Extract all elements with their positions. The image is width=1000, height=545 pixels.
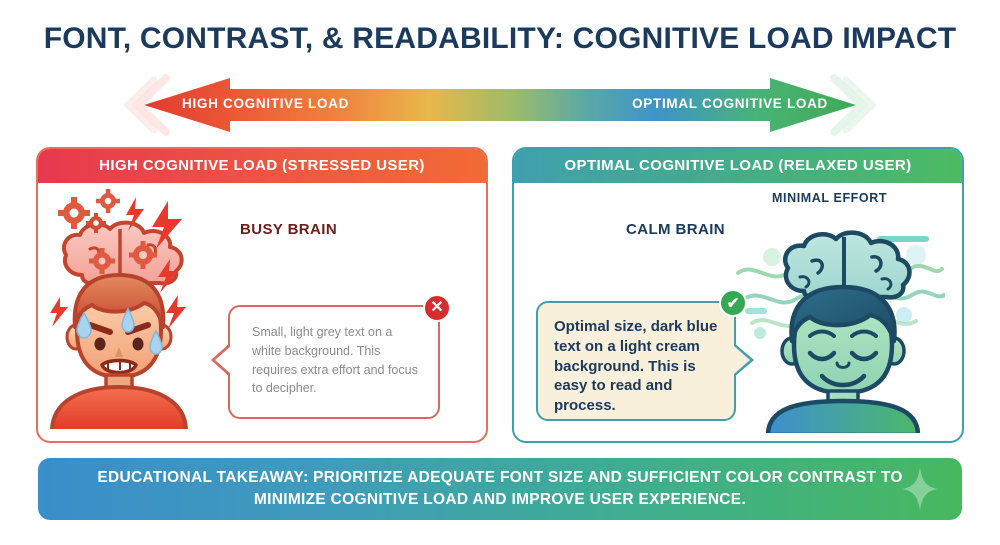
gear-icon: [96, 189, 120, 213]
card-body-optimal-load: CALM BRAIN MINIMAL EFFORT ✔ Optimal size…: [514, 183, 962, 443]
bad-text-sample: Small, light grey text on a white backgr…: [252, 325, 418, 395]
cognitive-load-spectrum-arrow: HIGH COGNITIVE LOAD OPTIMAL COGNITIVE LO…: [120, 74, 880, 136]
calm-brain-label: CALM BRAIN: [626, 221, 725, 238]
stressed-user-illustration: [44, 179, 244, 429]
check-mark-icon: ✔: [719, 289, 747, 317]
arrow-label-high-load: HIGH COGNITIVE LOAD: [182, 96, 349, 111]
arrow-label-optimal-load: OPTIMAL COGNITIVE LOAD: [632, 96, 828, 111]
card-high-cognitive-load: HIGH COGNITIVE LOAD (STRESSED USER): [36, 147, 488, 443]
stressed-face: [52, 275, 186, 429]
educational-takeaway-banner: EDUCATIONAL TAKEAWAY: PRIORITIZE ADEQUAT…: [38, 458, 962, 520]
sparkle-icon: [900, 465, 940, 513]
minimal-effort-label: MINIMAL EFFORT: [772, 191, 887, 205]
good-text-sample-bubble: ✔ Optimal size, dark blue text on a ligh…: [536, 301, 736, 421]
good-text-sample: Optimal size, dark blue text on a light …: [554, 318, 717, 414]
comparison-cards: HIGH COGNITIVE LOAD (STRESSED USER): [0, 147, 1000, 443]
bubble-tail-inner-icon: [734, 346, 750, 374]
bubble-tail-inner-icon: [215, 346, 231, 374]
card-body-high-load: BUSY BRAIN ✕ Small, light grey text on a…: [38, 183, 486, 443]
card-optimal-cognitive-load: OPTIMAL COGNITIVE LOAD (RELAXED USER): [512, 147, 964, 443]
busy-brain-label: BUSY BRAIN: [240, 221, 337, 238]
page-title: FONT, CONTRAST, & READABILITY: COGNITIVE…: [0, 0, 1000, 54]
takeaway-text: EDUCATIONAL TAKEAWAY: PRIORITIZE ADEQUAT…: [96, 467, 904, 512]
bad-text-sample-bubble: ✕ Small, light grey text on a white back…: [228, 305, 440, 419]
x-mark-icon: ✕: [423, 294, 451, 322]
gear-icon: [58, 197, 90, 229]
card-header-high-load: HIGH COGNITIVE LOAD (STRESSED USER): [38, 149, 486, 183]
calm-face: [768, 287, 918, 433]
relaxed-user-illustration: [730, 173, 945, 433]
